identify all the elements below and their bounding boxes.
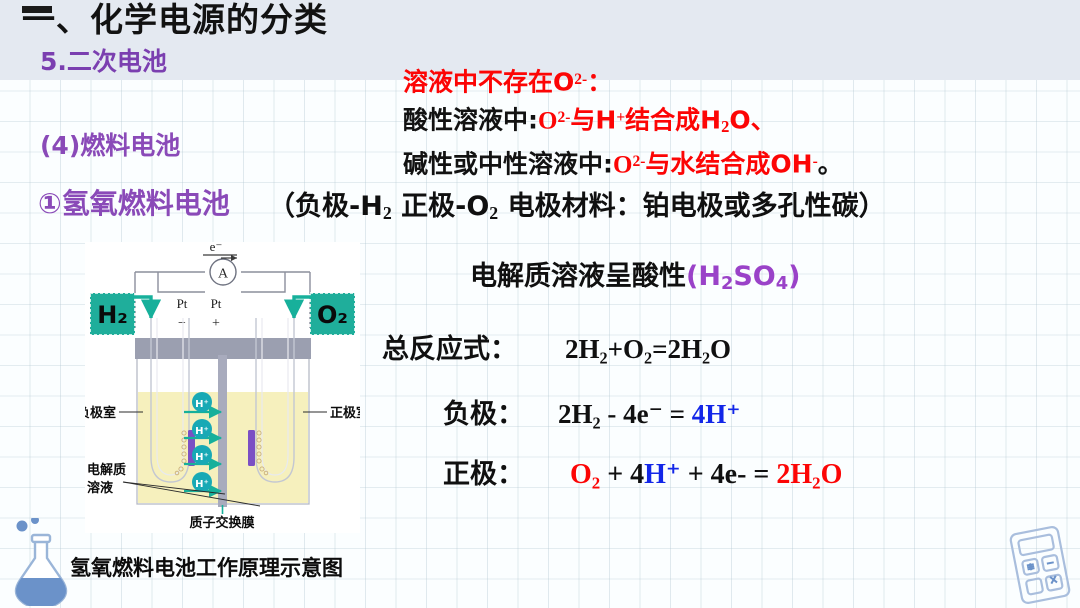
electrolyte-formula: (H2SO4) (686, 261, 801, 292)
note-line-2-oxide-charge: 2- (557, 109, 570, 126)
note-line-2-black: 酸性溶液中: (403, 105, 538, 134)
note-block: 溶液中不存在O2-： 酸性溶液中:O2-与H+结合成H2O、 碱性或中性溶液中:… (403, 62, 843, 182)
negative-electrode-row: 负极：2H₂ - 4e⁻ = 4H⁺ (443, 392, 740, 431)
formula-sub-2: 4 (776, 273, 788, 294)
electrolyte-statement: 电解质溶液呈酸性(H2SO4) (470, 254, 801, 294)
positive-water: 2H₂O (776, 459, 842, 490)
o2-label: O₂ (317, 301, 348, 329)
proton-exchange-membrane (218, 355, 227, 507)
diagram-caption: 氢氧燃料电池工作原理示意图 (70, 552, 343, 582)
membrane-label: 质子交换膜 (189, 515, 254, 531)
note-line-2-tail: O、 (729, 105, 775, 134)
negative-sign: − (178, 316, 186, 331)
negative-electrode-label: 负极： (443, 399, 524, 430)
pt-left-label: Pt (177, 296, 188, 311)
total-reaction-label: 总反应式： (382, 334, 517, 365)
positive-electrode-body: O₂ + 4H⁺ + 4e- = 2H₂O (570, 459, 842, 490)
electrolyte-label-line2: 溶液 (87, 480, 113, 496)
pt-right-label: Pt (211, 296, 222, 311)
note-line-2-with-h: 与H (570, 105, 616, 134)
positive-electrode-label: 正极： (443, 459, 524, 490)
note-line-2-forms: 结合成H (625, 105, 721, 134)
note-line-3-oxide-charge: 2- (632, 153, 645, 170)
calculator-screen (1018, 534, 1054, 555)
note-line-3: 碱性或中性溶液中:O2-与水结合成OH-。 (403, 144, 843, 183)
proton-label-4: H⁺ (195, 479, 209, 490)
flask-icon (4, 518, 78, 608)
formula-open: (H (686, 261, 721, 292)
section-heading-1: ①氢氧燃料电池 (38, 182, 230, 222)
positive-proton: H⁺ (644, 459, 681, 490)
detail-suffix: 电极材料：铂电极或多孔性碳） (498, 191, 885, 222)
formula-close: ) (788, 261, 800, 292)
positive-electrode-row: 正极：O₂ + 4H⁺ + 4e- = 2H₂O (443, 452, 842, 491)
flask-bubble-large (17, 521, 28, 532)
anode-chamber-label: 负极室 (85, 405, 116, 421)
note-line-2-oxide: O (538, 107, 557, 134)
electrolyte-label: 电解质溶液呈酸性 (470, 261, 686, 292)
detail-prefix: （负极-H (268, 191, 383, 222)
fuel-cell-diagram: A e⁻ H₂ O₂ Pt Pt − + (85, 242, 360, 533)
formula-sub-1: 2 (721, 273, 733, 294)
flask-bubble-small (31, 518, 39, 524)
page-title: 一、化学电源的分类 (22, 0, 328, 40)
slide-canvas: 一、化学电源的分类 5.二次电池 (4)燃料电池 ①氢氧燃料电池 （负极-H2 … (0, 0, 1080, 608)
formula-mid: SO (733, 261, 775, 292)
subtitle: 5.二次电池 (40, 47, 167, 77)
proton-label-3: H⁺ (195, 452, 209, 463)
note-line-2-h-charge: + (616, 109, 625, 126)
proton-label-2: H⁺ (195, 426, 209, 437)
total-reaction-body: 2H₂+O₂=2H₂O (565, 334, 731, 364)
section-heading-4: (4)燃料电池 (40, 126, 180, 162)
note-line-3-black: 碱性或中性溶液中: (403, 149, 613, 178)
negative-body-black: 2H₂ - 4e⁻ = (558, 399, 692, 429)
section-heading-1-detail: （负极-H2 正极-O2 电极材料：铂电极或多孔性碳） (268, 184, 886, 224)
note-line-2: 酸性溶液中:O2-与H+结合成H2O、 (403, 100, 843, 144)
flask-neck (32, 535, 50, 542)
negative-electrode-body: 2H₂ - 4e⁻ = 4H⁺ (558, 399, 740, 429)
detail-mid: 正极-O (392, 191, 490, 222)
calculator-key-equals (1026, 578, 1043, 595)
ammeter-label: A (218, 267, 229, 282)
note-line-1-text: 溶液中不存在O (403, 68, 574, 97)
cathode-chamber-label: 正极室 (330, 405, 360, 421)
note-line-1-sup: 2- (574, 71, 587, 88)
note-line-3-period: 。 (818, 149, 843, 178)
electron-label: e⁻ (210, 242, 223, 254)
positive-oxygen: O₂ (570, 459, 600, 490)
negative-body-product: 4H⁺ (692, 399, 741, 429)
positive-plus-1: + 4 (600, 459, 644, 490)
note-line-1-colon: ： (587, 68, 612, 97)
positive-electrons: + 4e- = (681, 459, 777, 490)
h2-label: H₂ (97, 301, 128, 329)
proton-label-1: H⁺ (195, 399, 209, 410)
total-reaction-row: 总反应式：2H₂+O₂=2H₂O (382, 327, 731, 366)
note-line-1: 溶液中不存在O2-： (403, 62, 843, 100)
cathode-electrode (248, 430, 255, 466)
note-line-3-forms: 与水结合成OH (645, 149, 812, 178)
electrolyte-label-line1: 电解质 (87, 462, 126, 478)
positive-sign: + (212, 316, 220, 331)
calculator-icon (1002, 524, 1078, 608)
note-line-3-oxide: O (613, 151, 632, 178)
